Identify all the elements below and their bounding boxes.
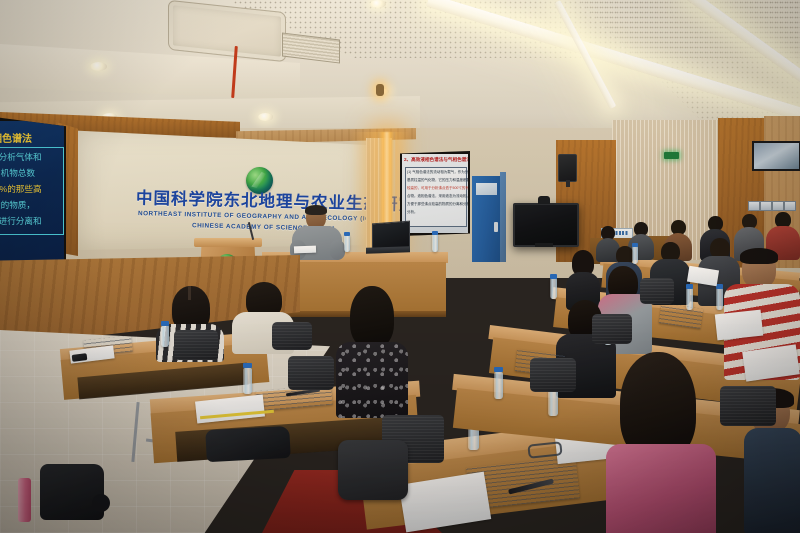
left-slide-line-4: 大的物质， (0, 199, 35, 211)
presenter-hair (305, 205, 327, 215)
exit-sign (664, 152, 679, 159)
seated-attendee (566, 250, 600, 306)
attendee-hair-part (188, 286, 191, 300)
door-window (476, 183, 497, 195)
water-bottle-cap (716, 284, 723, 289)
pendant-lamp (376, 84, 384, 96)
water-bottle[interactable] (243, 368, 252, 394)
chair[interactable] (288, 356, 334, 390)
wall-speaker (558, 154, 577, 182)
water-bottle-cap (632, 243, 638, 247)
seated-attendee (334, 286, 416, 416)
tv-stand-base (535, 243, 553, 247)
pink-water-bottle (18, 478, 31, 522)
water-bottle-cap (432, 231, 438, 235)
chair[interactable] (530, 358, 576, 392)
water-bottle-cap (161, 321, 169, 326)
water-bottle[interactable] (344, 235, 350, 252)
framed-display-panel (752, 141, 800, 171)
recessed-downlight-7 (370, 0, 386, 8)
water-bottle-cap (494, 367, 503, 372)
attendee-hair (350, 286, 394, 348)
document-sheet[interactable] (715, 310, 763, 341)
chair[interactable] (720, 386, 776, 426)
left-slide-title: 相色谱法 (0, 130, 32, 145)
right-slide-line-2: 基质柱温的气化物，它的压力和温度都要 (407, 178, 468, 183)
left-slide-content: 相色谱法 于分析气体和 有机物总数 80%的那些高 大的物质， 法进行分离和 (0, 121, 64, 266)
attendee-hair (740, 248, 778, 264)
wall-plaque-1 (748, 201, 760, 211)
door-handle[interactable] (494, 222, 498, 232)
left-slide-line-5: 法进行分离和 (0, 215, 42, 227)
seated-attendee (606, 352, 716, 533)
chair[interactable] (592, 314, 632, 344)
wall-plaque-4 (784, 201, 796, 211)
door-frame-right (500, 172, 506, 262)
right-slide-line-6: 分析。 (407, 210, 418, 215)
water-bottle[interactable] (432, 234, 438, 252)
water-bottle[interactable] (548, 388, 558, 416)
wall-plaque-3 (772, 201, 784, 211)
right-slide-content: 2、高效液相色谱法与气相色谱法 (1) 气相色谱法的流动相为载气，作为分离 基质… (402, 154, 468, 233)
chair[interactable] (272, 322, 312, 350)
left-slide-line-1: 于分析气体和 (0, 151, 42, 163)
recessed-downlight-4 (258, 113, 273, 121)
backpack-strap (92, 494, 110, 512)
bag-on-shelf (205, 426, 291, 462)
lecture-hall-photo: 中国科学院东北地理与农业生态研究所 NORTHEAST INSTITUTE OF… (0, 0, 800, 533)
recessed-downlight-1 (90, 62, 107, 71)
institute-globe-logo (246, 167, 273, 194)
chair[interactable] (640, 278, 674, 304)
wall-plaque-2 (760, 201, 772, 211)
water-bottle[interactable] (632, 246, 638, 264)
water-bottle[interactable] (550, 278, 557, 299)
right-slide-line-3: 较高的，可用于分析沸点低于500℃的有机化 (407, 186, 468, 191)
water-bottle[interactable] (716, 288, 723, 310)
water-bottle[interactable] (161, 325, 169, 347)
water-bottle-cap (243, 363, 252, 368)
chair[interactable] (174, 330, 218, 360)
right-slide-line-5: 方便于那些沸点较高的物质的分离和分析 (407, 202, 468, 207)
right-slide-line-4: 合物。液相色谱法，采用液态为流动相， (407, 194, 468, 199)
right-projection-screen: 2、高效液相色谱法与气相色谱法 (1) 气相色谱法的流动相为载气，作为分离 基质… (400, 151, 470, 236)
wall-mounted-display[interactable] (513, 203, 579, 247)
chair[interactable] (338, 440, 408, 500)
water-bottle[interactable] (494, 372, 503, 399)
presenter-arm-right (330, 240, 345, 260)
attendee-torso-floral (336, 342, 408, 418)
attendee-torso-pink (606, 444, 716, 533)
left-projection-screen: 相色谱法 于分析气体和 有机物总数 80%的那些高 大的物质， 法进行分离和 (0, 117, 66, 271)
right-slide-line-1: (1) 气相色谱法的流动相为载气，作为分离 (407, 170, 468, 175)
document-sheet[interactable] (294, 246, 316, 254)
water-bottle-cap (686, 284, 693, 289)
right-slide-title: 2、高效液相色谱法与气相色谱法 (404, 157, 468, 163)
left-slide-line-3: 80%的那些高 (0, 183, 42, 195)
backpack (40, 464, 104, 520)
attendee-torso (744, 428, 800, 533)
left-slide-line-2: 有机物总数 (0, 167, 35, 179)
tv-ceiling-mount (538, 196, 550, 204)
water-bottle-cap (550, 274, 557, 279)
water-bottle-cap (344, 232, 350, 236)
speaker-mount-bracket (566, 180, 570, 187)
